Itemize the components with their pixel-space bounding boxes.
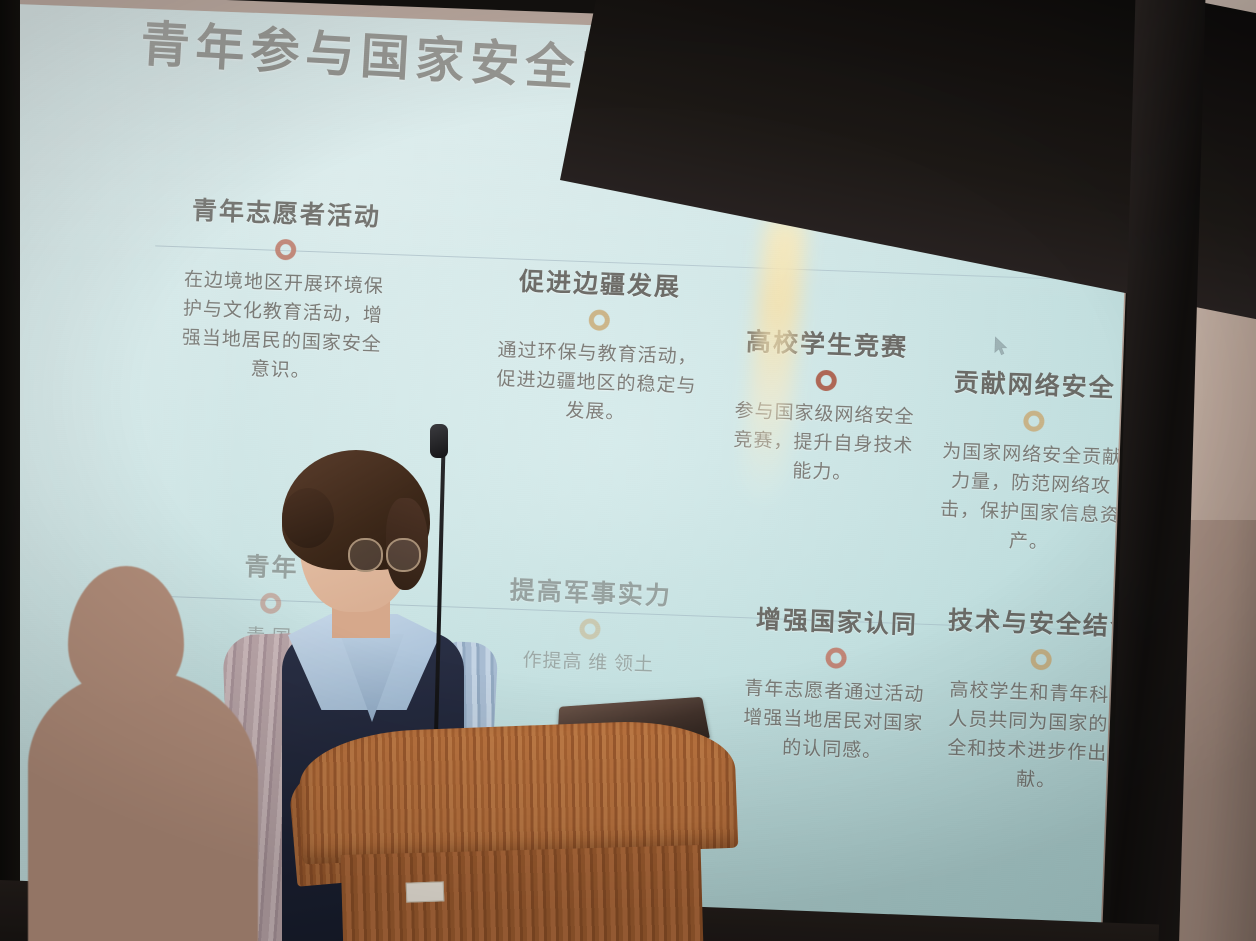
node-title: 技术与安全结合 [947,601,1133,644]
presenter-hair-bun [282,488,334,548]
timeline-node[interactable]: 促进边疆发展 通过环保与教育活动，促进边疆地区的稳定与发展。 [495,261,701,431]
timeline-node[interactable]: 高校学生竞赛 参与国家级网络安全竞赛，提升自身技术能力。 [727,322,923,491]
foreground-audience-silhouette [6,566,268,941]
podium-asset-label [406,881,445,902]
node-marker-icon [588,309,610,331]
node-marker-icon [1023,410,1045,432]
node-title: 贡献网络安全 [940,362,1129,405]
podium-base [341,845,704,941]
node-marker-icon [825,647,847,669]
timeline-node[interactable]: 增强国家认同 青年志愿者通过活动增强当地居民对国家的认同感。 [737,599,933,768]
audience-head [68,566,184,702]
node-body: 为国家网络安全贡献力量，防范网络攻击，保护国家信息资产。 [934,438,1126,560]
timeline-node[interactable]: 贡献网络安全 为国家网络安全贡献力量，防范网络攻击，保护国家信息资产。 [934,362,1129,560]
node-body: 在边境地区开展环境保护与文化教育活动，增强当地居民的国家安全意识。 [180,266,384,389]
audience-shoulders [28,670,258,941]
node-title: 促进边疆发展 [500,261,701,304]
node-body: 青年志愿者通过活动增强当地居民对国家的认同感。 [737,675,930,769]
timeline-node[interactable]: 青年志愿者活动 在边境地区开展环境保护与文化教育活动，增强当地居民的国家安全意识… [180,190,387,389]
timeline-node[interactable]: 技术与安全结合 高校学生和青年科研人员共同为国家的安全和技术进步作出贡献。 [942,601,1134,799]
presenter-glasses [348,538,420,570]
node-body: 高校学生和青年科研人员共同为国家的安全和技术进步作出贡献。 [942,677,1134,799]
node-marker-icon [815,370,837,392]
node-title: 增强国家认同 [741,599,932,642]
microphone-head-icon [430,424,448,458]
node-body: 通过环保与教育活动，促进边疆地区的稳定与发展。 [495,337,698,431]
mouse-pointer-icon [994,336,1009,356]
presentation-photo-scene: 青年参与国家安全的实际行动 青年志愿者活动 在边境地区开展环境保护与文化教育活动… [0,0,1256,941]
podium [300,700,740,941]
node-marker-icon [1030,649,1052,671]
node-marker-icon [579,618,601,640]
node-title: 青年志愿者活动 [186,190,387,233]
node-body: 参与国家级网络安全竞赛，提升自身技术能力。 [727,398,920,492]
podium-front-panel [298,718,739,865]
node-title: 高校学生竞赛 [732,322,923,365]
node-marker-icon [274,239,296,261]
